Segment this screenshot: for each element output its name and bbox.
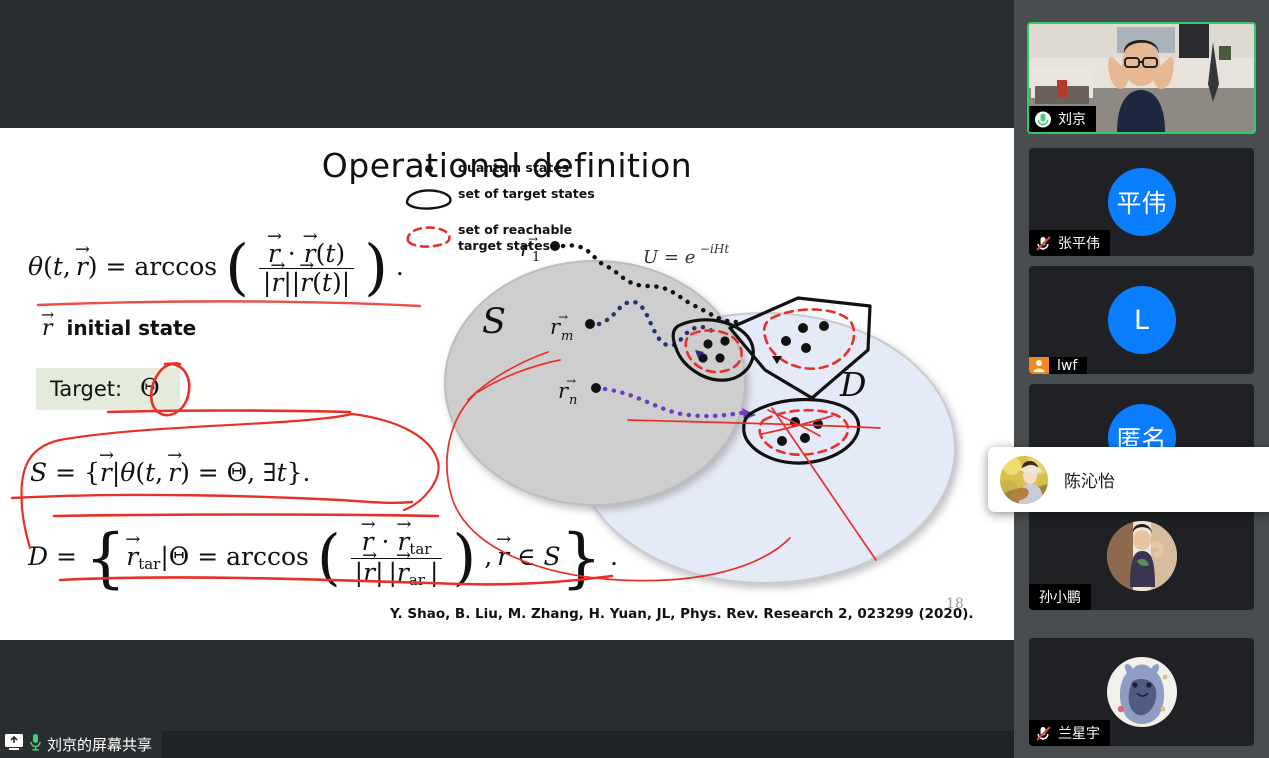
screen-share-bar: 刘京的屏幕共享 bbox=[0, 731, 1014, 758]
equation-theta-definition: θ(t, r) = arccos ( r · r(t) |r||r(t)| ) … bbox=[28, 240, 404, 297]
participant-name: 刘京 bbox=[1058, 109, 1086, 129]
legend-label: quantum states bbox=[458, 160, 569, 176]
participant-hover-popup[interactable]: 陈沁怡 bbox=[988, 447, 1269, 512]
presentation-slide: Operational definition θ(t, r) = arccos … bbox=[0, 128, 1014, 640]
svg-text:→: → bbox=[566, 374, 576, 388]
initial-state-note: r initial state bbox=[42, 316, 196, 341]
screen-share-icon bbox=[4, 733, 24, 756]
participant-tile-zhangpingwei[interactable]: 平伟 张平伟 bbox=[1029, 148, 1254, 256]
equation-set-S: S = {r|θ(t, r) = Θ, ∃t}. bbox=[30, 458, 311, 487]
microphone-icon bbox=[1035, 111, 1052, 128]
name-badge: 刘京 bbox=[1029, 106, 1096, 132]
svg-text:→: → bbox=[528, 232, 538, 246]
participant-tile-sunxiaopeng[interactable]: 孙小鹏 bbox=[1029, 502, 1254, 610]
participant-name: 孙小鹏 bbox=[1039, 587, 1081, 607]
microphone-muted-icon bbox=[1035, 235, 1052, 252]
svg-text:m: m bbox=[561, 329, 573, 344]
name-badge: 张平伟 bbox=[1029, 230, 1110, 256]
slide-page-number: 18 bbox=[946, 596, 964, 612]
avatar-photo bbox=[1107, 657, 1177, 727]
target-label: Target: bbox=[50, 377, 122, 401]
target-symbol: Θ bbox=[140, 374, 160, 402]
participant-name: 张平伟 bbox=[1058, 233, 1100, 253]
microphone-muted-icon bbox=[1035, 725, 1052, 742]
svg-text:U = e: U = e bbox=[643, 247, 695, 268]
participant-tile-lanxingyu[interactable]: 兰星宇 bbox=[1029, 638, 1254, 746]
target-highlight-box: Target:Θ bbox=[36, 368, 180, 410]
avatar: 平伟 bbox=[1108, 168, 1176, 236]
citation-text: Y. Shao, B. Liu, M. Zhang, H. Yuan, JL, … bbox=[390, 606, 974, 622]
participant-tile-lwf[interactable]: L lwf bbox=[1029, 266, 1254, 374]
participant-tile-liujing[interactable]: 刘京 bbox=[1027, 22, 1256, 134]
avatar: L bbox=[1108, 286, 1176, 354]
zoom-meeting-window: Operational definition θ(t, r) = arccos … bbox=[0, 0, 1269, 758]
participant-name: lwf bbox=[1057, 358, 1077, 374]
svg-text:→: → bbox=[558, 310, 568, 324]
screen-share-label: 刘京的屏幕共享 bbox=[47, 734, 152, 755]
svg-text:n: n bbox=[569, 393, 577, 408]
svg-text:S: S bbox=[482, 302, 506, 342]
participant-name: 兰星宇 bbox=[1058, 723, 1100, 743]
microphone-icon bbox=[29, 733, 42, 756]
user-icon bbox=[1029, 357, 1049, 374]
legend-item-quantum-states: quantum states bbox=[400, 160, 595, 176]
name-badge: 兰星宇 bbox=[1029, 720, 1110, 746]
participant-filmstrip[interactable]: 刘京 平伟 张平伟 L bbox=[1014, 0, 1269, 758]
name-badge: lwf bbox=[1029, 357, 1087, 374]
set-diagram-figure: S D r → 1 r → m r → bbox=[420, 198, 1014, 618]
screen-share-indicator[interactable]: 刘京的屏幕共享 bbox=[0, 731, 162, 758]
name-badge: 孙小鹏 bbox=[1029, 584, 1091, 610]
popup-participant-name: 陈沁怡 bbox=[1064, 467, 1115, 492]
avatar-photo bbox=[1000, 456, 1048, 504]
avatar-photo bbox=[1107, 521, 1177, 591]
svg-text:−iHt: −iHt bbox=[700, 242, 729, 256]
dot-icon bbox=[400, 160, 458, 176]
svg-text:1: 1 bbox=[532, 250, 540, 265]
shared-screen-stage[interactable]: Operational definition θ(t, r) = arccos … bbox=[0, 0, 1014, 758]
